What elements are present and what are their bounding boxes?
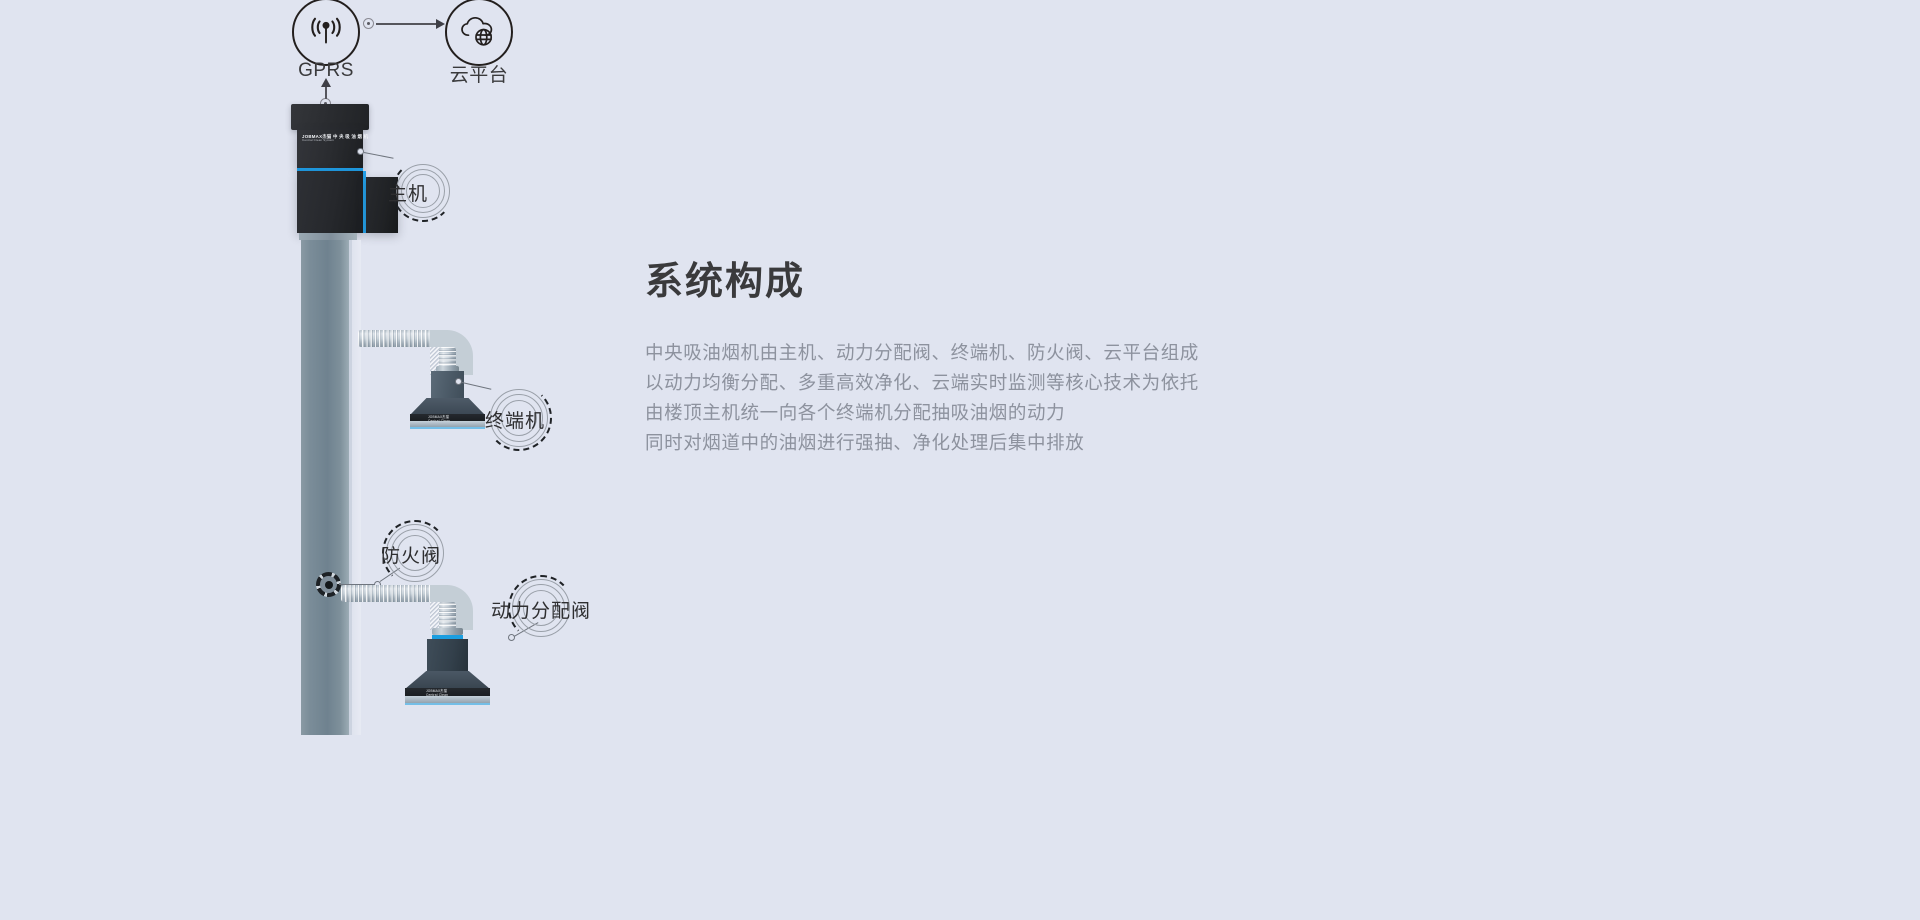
shaft-inner-wall [352,240,361,735]
cloud-icon-circle [445,0,513,66]
host-lower-body [297,171,363,233]
system-composition-diagram: GPRS 云平台 JOBMAX杰猫 中 央 吸 油 烟 机 Central Cl… [0,0,1920,920]
chimney-shaft [301,240,349,735]
arrow-gprs-to-cloud [376,23,438,25]
flex-duct-horizontal-terminal [358,330,438,347]
callout-label-terminal: 终端机 [485,406,545,433]
panel-description: 中央吸油烟机由主机、动力分配阀、终端机、防火阀、云平台组成 以动力均衡分配、多重… [645,339,1285,459]
panel-line-3: 由楼顶主机统一向各个终端机分配抽吸油烟的动力 [645,399,1285,429]
flex-duct-horizontal-lower [341,585,437,602]
arrow-head-gprs [321,78,331,87]
host-top-cap [291,104,369,130]
host-brand-line2: Central Clean System [302,139,368,143]
callout-dot-terminal [455,378,462,385]
shaft-top-cap [299,233,357,240]
arrow-head-cloud [436,19,445,29]
bottom-hood-flare [405,671,490,689]
connector-node-gprs-cloud [363,18,374,29]
power-valve-body [427,639,468,671]
arrow-host-to-gprs [325,86,327,99]
flex-duct-vertical-lower [439,602,456,630]
terminal-hood-accent [410,427,485,429]
bottom-hood-accent [405,703,490,705]
panel-line-2: 以动力均衡分配、多重高效净化、云端实时监测等核心技术为依托 [645,369,1285,399]
bottom-hood-glass [405,696,490,703]
callout-line-host [364,152,394,159]
callout-label-power-valve: 动力分配阀 [491,596,591,623]
callout-label-host: 主机 [388,179,428,206]
text-panel: 系统构成 中央吸油烟机由主机、动力分配阀、终端机、防火阀、云平台组成 以动力均衡… [645,250,1285,459]
callout-dot-host [357,148,364,155]
host-brand-text: JOBMAX杰猫 中 央 吸 油 烟 机 Central Clean Syste… [302,134,368,143]
fire-damper-hub [325,581,333,589]
panel-line-1: 中央吸油烟机由主机、动力分配阀、终端机、防火阀、云平台组成 [645,339,1285,369]
power-valve-neck [432,628,463,635]
callout-label-fire-damper: 防火阀 [381,541,441,568]
gprs-icon-circle [292,0,360,66]
page-title: 系统构成 [645,250,1285,305]
terminal-hood-flare [410,398,485,415]
panel-line-4: 同时对烟道中的油烟进行强抽、净化处理后集中排放 [645,429,1285,459]
callout-line-terminal [462,382,491,390]
cloud-platform-label: 云平台 [405,60,553,87]
